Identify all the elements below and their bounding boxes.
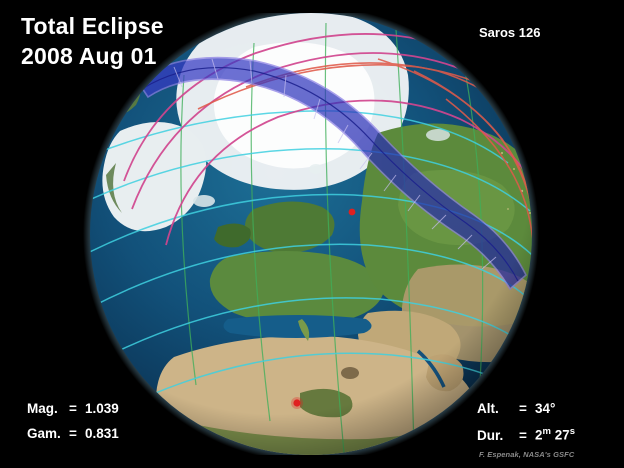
magnitude-equals: =: [69, 401, 85, 416]
altitude-equals: =: [519, 401, 535, 416]
page-title: Total Eclipse 2008 Aug 01: [21, 11, 164, 71]
gamma-equals: =: [69, 426, 85, 441]
duration-equals: =: [519, 428, 535, 443]
duration-minutes: 2: [535, 428, 543, 443]
altitude-unit: °: [550, 401, 555, 416]
eclipse-map-canvas: Total Eclipse 2008 Aug 01 Saros 126 Mag.…: [0, 0, 624, 468]
duration-seconds: 27: [555, 428, 570, 443]
title-line-1: Total Eclipse: [21, 11, 164, 41]
gamma-value: 0.831: [85, 426, 119, 441]
altitude-label: Alt.: [477, 401, 519, 416]
duration-minutes-unit: m: [543, 426, 551, 437]
saros-label: Saros 126: [479, 25, 540, 40]
title-line-2: 2008 Aug 01: [21, 41, 164, 71]
duration-label: Dur.: [477, 428, 519, 443]
altitude-stat: Alt.=34°: [477, 401, 555, 416]
magnitude-stat: Mag.=1.039: [27, 401, 119, 416]
gamma-label: Gam.: [27, 426, 69, 441]
altitude-value: 34: [535, 401, 550, 416]
gamma-stat: Gam.=0.831: [27, 426, 119, 441]
duration-stat: Dur.=2m 27s: [477, 426, 575, 443]
magnitude-label: Mag.: [27, 401, 69, 416]
credit-line: F. Espenak, NASA's GSFC: [479, 450, 574, 459]
earth-globe: [78, 13, 546, 455]
magnitude-value: 1.039: [85, 401, 119, 416]
duration-seconds-unit: s: [570, 426, 575, 437]
